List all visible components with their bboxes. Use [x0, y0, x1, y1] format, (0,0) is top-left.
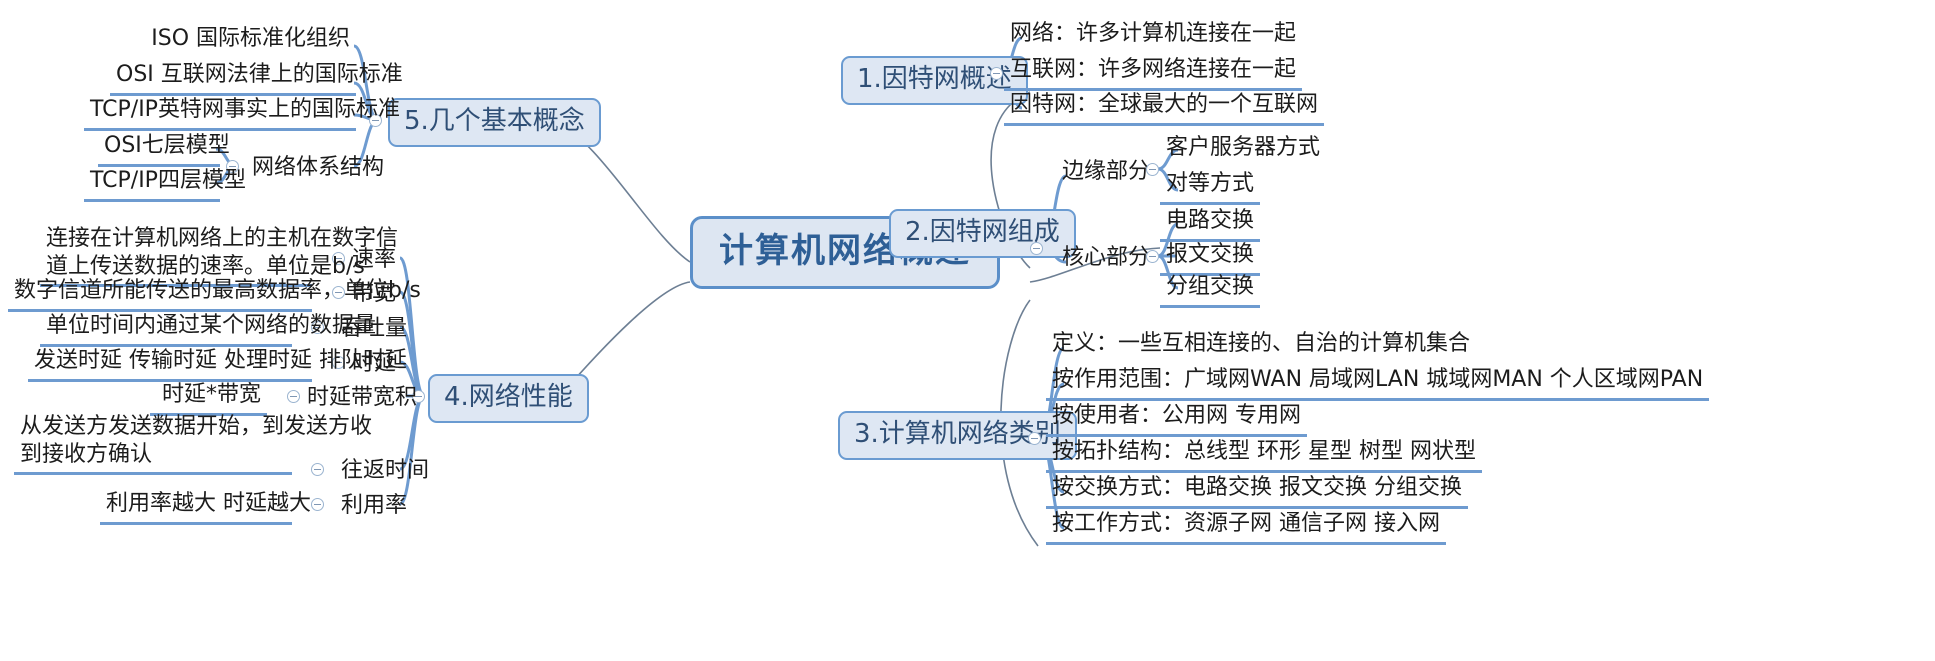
leaf-b5-arch-2[interactable]: TCP/IP四层模型 — [84, 166, 220, 202]
collapse-knob-b4-rtt[interactable] — [311, 463, 324, 476]
leaf-b4-dbp-desc[interactable]: 时延*带宽 — [150, 380, 267, 416]
leaf-b4-utilization-desc[interactable]: 利用率越大 时延越大 — [100, 489, 292, 525]
collapse-knob-branch-3[interactable] — [1028, 432, 1041, 445]
leaf-b3-1[interactable]: 定义：一些互相连接的、自治的计算机集合 — [1046, 329, 1476, 362]
leaf-b4-rtt-line2: 到接收方确认 — [20, 441, 286, 469]
subtopic-b4-utilization[interactable]: 利用率 — [337, 491, 411, 522]
leaf-b4-rtt-line1: 从发送方发送数据开始，到发送方收 — [20, 413, 286, 441]
leaf-b1-2[interactable]: 互联网：许多网络连接在一起 — [1004, 55, 1302, 91]
branch-label-5: 5.几个基本概念 — [404, 106, 585, 136]
leaf-b2-edge-2[interactable]: 对等方式 — [1160, 169, 1260, 205]
leaf-b5-2[interactable]: OSI 互联网法律上的国际标准 — [110, 60, 356, 96]
subtopic-b2-edge[interactable]: 边缘部分 — [1058, 157, 1154, 188]
leaf-b4-throughput-desc[interactable]: 单位时间内通过某个网络的数据量 — [40, 311, 292, 347]
leaf-b3-6[interactable]: 按工作方式：资源子网 通信子网 接入网 — [1046, 509, 1446, 545]
branch-node-2[interactable]: 2.因特网组成 — [889, 209, 1076, 258]
leaf-b2-core-2[interactable]: 报文交换 — [1160, 240, 1260, 276]
branch-node-4[interactable]: 4.网络性能 — [428, 374, 589, 423]
branch-node-3[interactable]: 3.计算机网络类别 — [838, 411, 1077, 460]
subtopic-b2-core[interactable]: 核心部分 — [1058, 243, 1154, 274]
branch-label-1: 1.因特网概述 — [857, 64, 1012, 94]
collapse-knob-b4-utilization[interactable] — [311, 498, 324, 511]
leaf-b3-2[interactable]: 按作用范围：广域网WAN 局域网LAN 城域网MAN 个人区域网PAN — [1046, 365, 1709, 401]
collapse-knob-branch-2[interactable] — [1030, 242, 1043, 255]
branch-node-1[interactable]: 1.因特网概述 — [841, 56, 1028, 105]
leaf-b4-rate-line1: 连接在计算机网络上的主机在数字信 — [46, 225, 306, 253]
leaf-b3-4[interactable]: 按拓扑结构：总线型 环形 星型 树型 网状型 — [1046, 437, 1482, 473]
mindmap-canvas: 计算机网络概述 1.因特网概述 网络：许多计算机连接在一起 互联网：许多网络连接… — [0, 0, 1935, 661]
branch-label-4: 4.网络性能 — [444, 382, 573, 412]
leaf-b5-3[interactable]: TCP/IP英特网事实上的国际标准 — [84, 95, 356, 131]
subtopic-b5-architecture[interactable]: 网络体系结构 — [248, 153, 388, 184]
leaf-b5-arch-1[interactable]: OSI七层模型 — [98, 131, 220, 167]
collapse-knob-b4-dbp[interactable] — [287, 390, 300, 403]
leaf-b4-bandwidth-desc[interactable]: 数字信道所能传送的最高数据率，单位b/s — [8, 276, 312, 312]
subtopic-b4-rtt[interactable]: 往返时间 — [337, 456, 433, 487]
leaf-b5-1[interactable]: ISO 国际标准化组织 — [110, 24, 356, 57]
collapse-knob-b2-core[interactable] — [1146, 250, 1159, 263]
collapse-knob-b2-edge[interactable] — [1146, 163, 1159, 176]
leaf-b3-3[interactable]: 按使用者：公用网 专用网 — [1046, 401, 1307, 437]
leaf-b4-rtt-desc[interactable]: 从发送方发送数据开始，到发送方收 到接收方确认 — [14, 412, 292, 475]
subtopic-b4-delay-bandwidth-product[interactable]: 时延带宽积 — [303, 383, 421, 414]
branch-node-5[interactable]: 5.几个基本概念 — [388, 98, 601, 147]
collapse-knob-branch-1[interactable] — [990, 67, 1003, 80]
leaf-b2-core-1[interactable]: 电路交换 — [1160, 206, 1260, 242]
leaf-b1-1[interactable]: 网络：许多计算机连接在一起 — [1004, 19, 1302, 52]
leaf-b2-core-3[interactable]: 分组交换 — [1160, 272, 1260, 308]
leaf-b1-3[interactable]: 因特网：全球最大的一个互联网 — [1004, 90, 1324, 126]
leaf-b4-delay-desc[interactable]: 发送时延 传输时延 处理时延 排队时延 — [28, 346, 312, 382]
leaf-b2-edge-1[interactable]: 客户服务器方式 — [1160, 133, 1326, 166]
leaf-b3-5[interactable]: 按交换方式：电路交换 报文交换 分组交换 — [1046, 473, 1468, 509]
